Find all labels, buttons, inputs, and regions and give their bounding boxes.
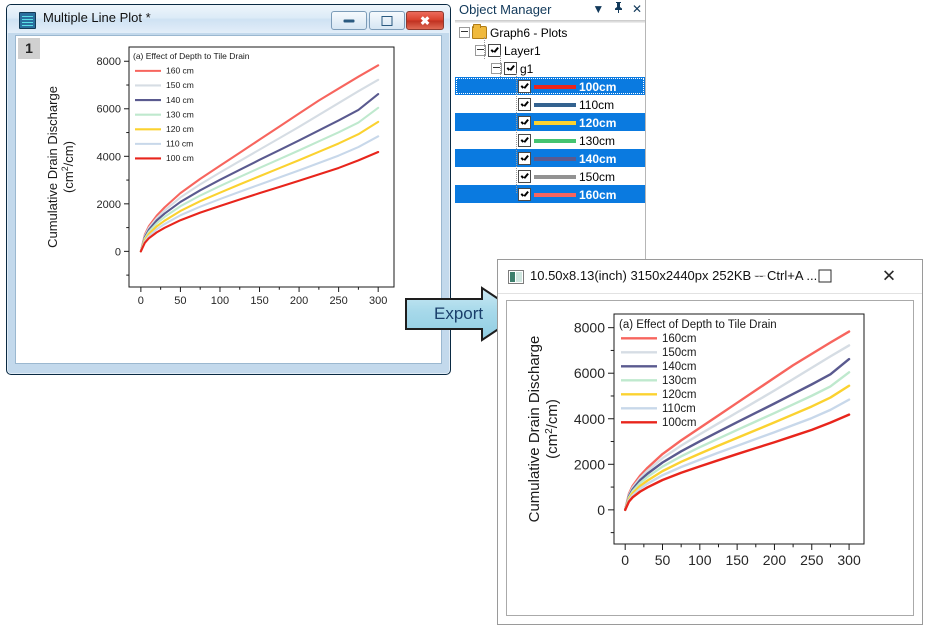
svg-text:Cumulative Drain Discharge: Cumulative Drain Discharge	[45, 86, 60, 248]
graph-window-icon	[19, 12, 36, 29]
y-tick-label: 4000	[97, 151, 121, 163]
graph-window-titlebar[interactable]: Multiple Line Plot * ✖	[7, 5, 450, 33]
x-tick-label: 50	[655, 552, 671, 568]
legend-label: 140cm	[662, 361, 697, 373]
tree-item-label: 120cm	[579, 116, 616, 130]
x-tick-label: 50	[174, 295, 186, 307]
x-tick-label: 150	[250, 295, 268, 307]
y-tick-label: 8000	[97, 56, 121, 68]
image-preview-window[interactable]: 10.50x8.13(inch) 3150x2440px 252KB -- Ct…	[497, 259, 923, 625]
visibility-checkbox[interactable]	[518, 80, 531, 93]
y-tick-label: 6000	[97, 104, 121, 116]
y-axis-title: Cumulative Drain Discharge(cm2/cm)	[45, 86, 76, 248]
visibility-checkbox[interactable]	[518, 134, 531, 147]
x-tick-label: 150	[725, 552, 749, 568]
plot-line-swatch	[534, 157, 576, 161]
legend-label: 130 cm	[166, 109, 194, 119]
tree-item-plot[interactable]: 160cm	[455, 185, 645, 203]
object-manager-header: Object Manager ▼ ✕	[455, 0, 645, 20]
x-tick-label: 0	[621, 552, 629, 568]
maximize-button[interactable]	[369, 11, 405, 30]
legend-label: 160cm	[662, 333, 697, 345]
tree-item-plot[interactable]: 100cm	[455, 77, 645, 95]
tree-item-label: 130cm	[579, 134, 615, 148]
svg-text:(cm2/cm): (cm2/cm)	[544, 399, 562, 459]
y-tick-label: 0	[597, 502, 605, 518]
y-tick-label: 6000	[574, 365, 605, 381]
close-icon: ✖	[420, 15, 430, 27]
export-label: Export	[434, 304, 483, 324]
legend-label: 140 cm	[166, 95, 194, 105]
tree-guide	[484, 37, 485, 59]
graph-window-title: Multiple Line Plot *	[43, 10, 151, 25]
legend-label: 120cm	[662, 389, 697, 401]
plot-line-swatch	[534, 85, 576, 89]
tree-item-label: 160cm	[579, 188, 616, 202]
preview-minimize-button[interactable]	[737, 260, 783, 292]
tree-item-plot[interactable]: 150cm	[455, 167, 645, 185]
chart-title: (a) Effect of Depth to Tile Drain	[133, 51, 250, 61]
plot-line-swatch	[534, 121, 576, 125]
x-tick-label: 300	[369, 295, 387, 307]
visibility-checkbox[interactable]	[518, 188, 531, 201]
legend-label: 100cm	[662, 417, 697, 429]
x-tick-label: 200	[763, 552, 787, 568]
x-tick-label: 300	[837, 552, 861, 568]
plot-line-swatch	[534, 103, 576, 107]
tree-item-label: 100cm	[579, 80, 616, 94]
legend-label: 150 cm	[166, 80, 194, 90]
x-tick-label: 250	[329, 295, 347, 307]
pin-icon[interactable]	[614, 2, 623, 16]
object-manager-panel[interactable]: Object Manager ▼ ✕ Graph6 - PlotsLayer1g…	[455, 0, 646, 278]
preview-titlebar[interactable]: 10.50x8.13(inch) 3150x2440px 252KB -- Ct…	[498, 260, 922, 294]
close-icon: ✕	[882, 268, 896, 285]
tree-guide	[516, 73, 517, 193]
plot-line-swatch	[534, 175, 576, 179]
series-line	[625, 359, 849, 510]
y-tick-label: 4000	[574, 411, 605, 427]
tree-item-label: 140cm	[579, 152, 616, 166]
chart-title: (a) Effect of Depth to Tile Drain	[619, 319, 777, 331]
preview-maximize-button[interactable]	[802, 260, 848, 292]
legend-label: 160 cm	[166, 66, 194, 76]
series-line	[625, 386, 849, 510]
close-icon[interactable]: ✕	[632, 2, 642, 16]
legend-label: 120 cm	[166, 124, 194, 134]
legend-label: 150cm	[662, 347, 697, 359]
plot-line-swatch	[534, 193, 576, 197]
chevron-down-icon[interactable]: ▼	[592, 2, 604, 16]
legend-label: 110cm	[662, 403, 696, 415]
plot-line-swatch	[534, 139, 576, 143]
tree-item-plot[interactable]: 130cm	[455, 131, 645, 149]
svg-text:Cumulative Drain Discharge: Cumulative Drain Discharge	[526, 336, 543, 523]
x-tick-label: 0	[138, 295, 144, 307]
object-manager-toolbar[interactable]: ▼ ✕	[586, 2, 642, 16]
preview-close-button[interactable]: ✕	[866, 260, 912, 292]
graph-window[interactable]: Multiple Line Plot * ✖ 1 020004000600080…	[6, 4, 451, 375]
x-tick-label: 100	[211, 295, 229, 307]
tree-item-label: Layer1	[504, 44, 541, 58]
tree-item-label: 150cm	[579, 170, 615, 184]
x-tick-label: 200	[290, 295, 308, 307]
maximize-icon	[819, 270, 832, 283]
y-axis-title: Cumulative Drain Discharge(cm2/cm)	[526, 336, 561, 523]
x-tick-label: 100	[688, 552, 712, 568]
tree-item-label: g1	[520, 62, 533, 76]
tree-item-label: Graph6 - Plots	[490, 26, 567, 40]
tree-item-plot[interactable]: 120cm	[455, 113, 645, 131]
y-tick-label: 2000	[97, 199, 121, 211]
legend-label: 100 cm	[166, 153, 194, 163]
tree-item-node[interactable]: g1	[455, 59, 645, 77]
line-chart-graph-window: 02000400060008000050100150200250300(a) E…	[24, 42, 444, 342]
x-tick-label: 250	[800, 552, 824, 568]
visibility-checkbox[interactable]	[518, 98, 531, 111]
graph-canvas[interactable]: 1 02000400060008000050100150200250300(a)…	[15, 35, 442, 364]
tree-item-label: 110cm	[579, 98, 614, 112]
visibility-checkbox[interactable]	[518, 116, 531, 129]
object-manager-tree[interactable]: Graph6 - PlotsLayer1g1100cm110cm120cm130…	[455, 23, 645, 278]
legend-label: 110 cm	[166, 139, 193, 149]
y-tick-label: 8000	[574, 320, 605, 336]
visibility-checkbox[interactable]	[518, 170, 531, 183]
image-preview-icon	[508, 270, 524, 284]
preview-canvas[interactable]: 02000400060008000050100150200250300(a) E…	[506, 300, 914, 616]
restore-icon	[382, 16, 393, 26]
line-chart-preview: 02000400060008000050100150200250300(a) E…	[507, 301, 913, 613]
legend-label: 130cm	[662, 375, 697, 387]
series-line	[625, 372, 849, 510]
minimize-button[interactable]	[331, 11, 367, 30]
expander-icon[interactable]	[459, 27, 470, 38]
y-tick-label: 2000	[574, 456, 605, 472]
visibility-checkbox[interactable]	[518, 152, 531, 165]
minimize-icon	[344, 19, 355, 22]
minimize-icon	[755, 276, 766, 277]
y-tick-label: 0	[115, 246, 121, 258]
object-manager-title: Object Manager	[459, 2, 552, 17]
tree-guide	[500, 55, 501, 77]
close-button[interactable]: ✖	[406, 11, 444, 30]
tree-item-plot[interactable]: 110cm	[455, 95, 645, 113]
tree-item-plot[interactable]: 140cm	[455, 149, 645, 167]
svg-text:(cm2/cm): (cm2/cm)	[60, 141, 76, 193]
